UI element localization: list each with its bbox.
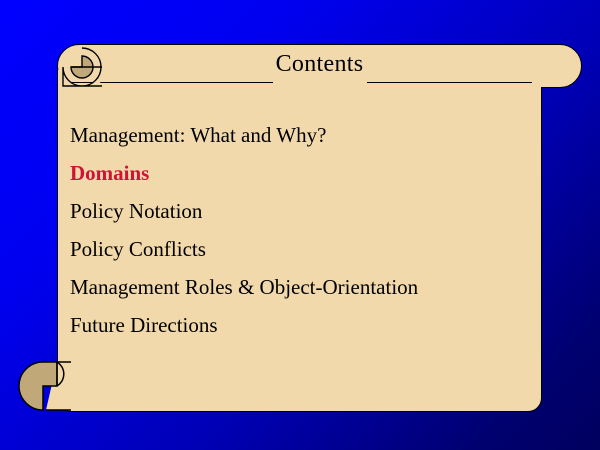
list-item[interactable]: Management Roles & Object-Orientation	[70, 268, 530, 306]
page-title: Contents	[57, 44, 582, 84]
list-item[interactable]: Policy Conflicts	[70, 230, 530, 268]
contents-list: Management: What and Why? Domains Policy…	[70, 116, 530, 344]
list-item[interactable]: Policy Notation	[70, 192, 530, 230]
scroll-curl-bottom-icon	[16, 358, 72, 414]
list-item[interactable]: Future Directions	[70, 306, 530, 344]
list-item[interactable]: Domains	[70, 154, 530, 192]
slide-canvas: Contents Management: What and Why? Domai…	[0, 0, 600, 450]
list-item[interactable]: Management: What and Why?	[70, 116, 530, 154]
title-row: Contents	[57, 44, 582, 88]
scroll-curl-top-icon	[62, 47, 102, 87]
